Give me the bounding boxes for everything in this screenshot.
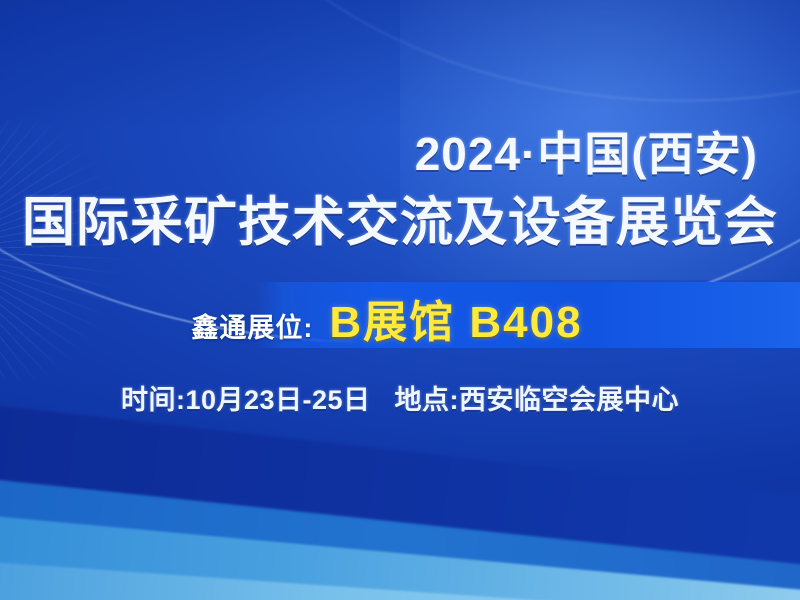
poster-title-line-2: 国际采矿技术交流及设备展览会 [22,180,778,256]
event-details-row: 时间:10月23日-25日 地点:西安临空会展中心 [0,378,800,417]
poster-title-line-1: 2024·中国(西安) [415,118,758,184]
poster-content: 2024·中国(西安) 国际采矿技术交流及设备展览会 鑫通展位: B展馆 B40… [0,0,800,600]
booth-info-row: 鑫通展位: B展馆 B408 [0,286,800,350]
event-date: 时间:10月23日-25日 [121,378,371,417]
exhibition-poster: 2024·中国(西安) 国际采矿技术交流及设备展览会 鑫通展位: B展馆 B40… [0,0,800,600]
event-venue: 地点:西安临空会展中心 [395,378,680,417]
booth-label: 鑫通展位: [191,306,313,345]
booth-number: B展馆 B408 [329,286,582,350]
